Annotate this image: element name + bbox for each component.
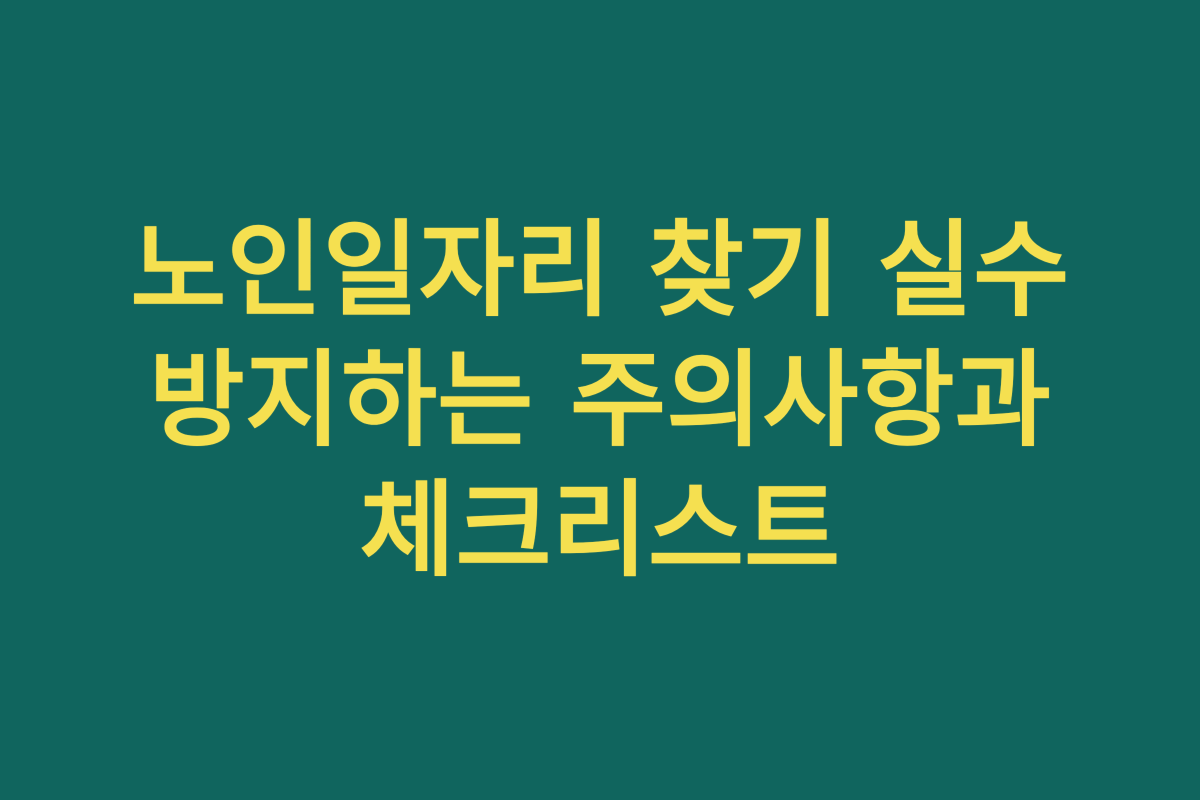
- title-card: 노인일자리 찾기 실수 방지하는 주의사항과 체크리스트: [0, 0, 1200, 800]
- page-title: 노인일자리 찾기 실수 방지하는 주의사항과 체크리스트: [85, 205, 1115, 595]
